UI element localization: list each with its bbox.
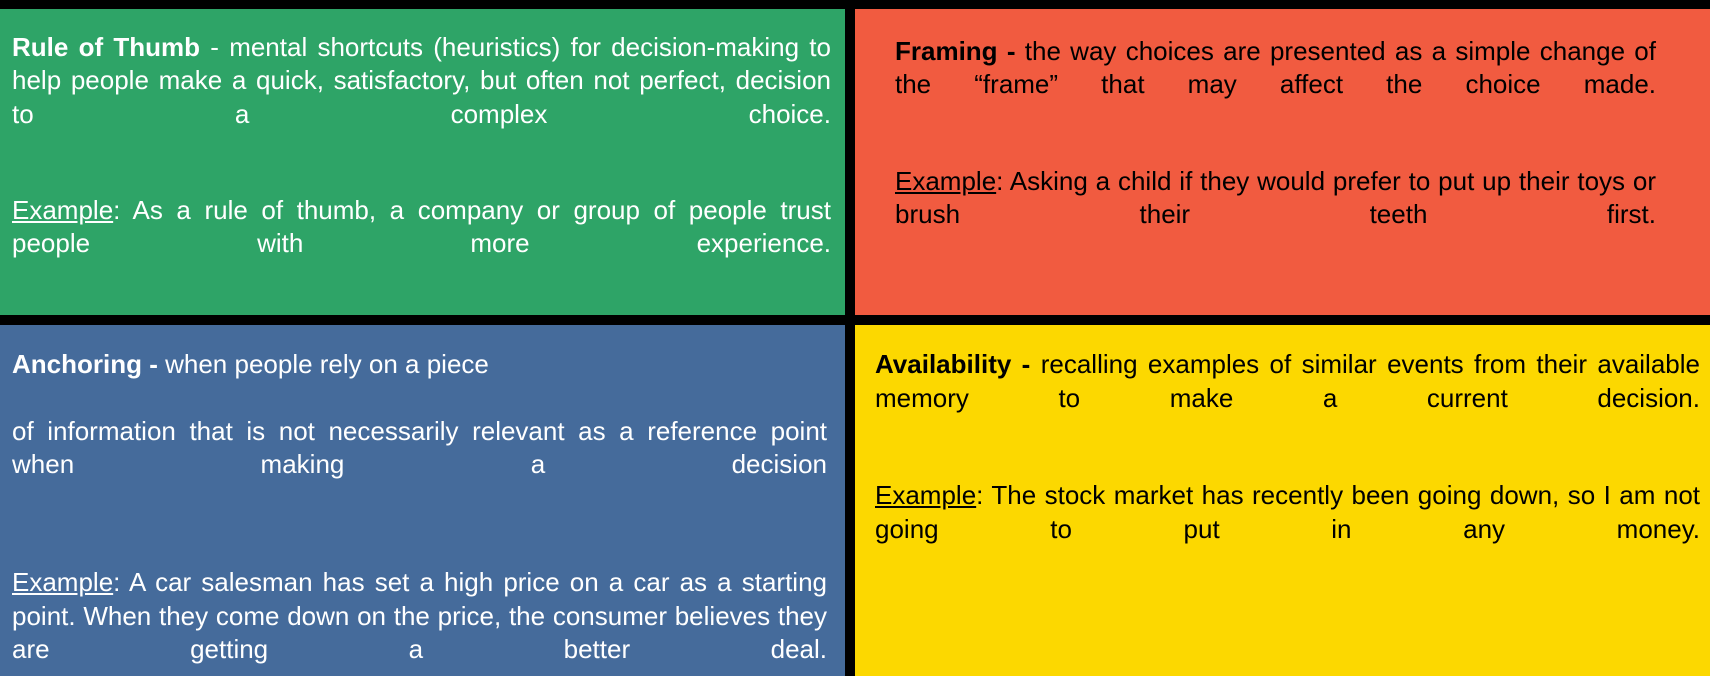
card-availability: Availability - recalling examples of sim… — [855, 325, 1710, 676]
card-anchoring: Anchoring - when people rely on a piece … — [0, 325, 845, 676]
framing-example-label: Example — [895, 166, 996, 196]
framing-term: Framing - — [895, 36, 1016, 66]
availability-example-text: : The stock market has recently been goi… — [875, 480, 1700, 544]
anchoring-definition-rest: of information that is not necessarily r… — [12, 415, 827, 515]
anchoring-example: Example: A car salesman has set a high p… — [12, 566, 827, 676]
card-framing: Framing - the way choices are presented … — [855, 9, 1710, 315]
rule-of-thumb-example-label: Example — [12, 195, 113, 225]
rule-of-thumb-example: Example: As a rule of thumb, a company o… — [12, 194, 831, 294]
anchoring-example-text: : A car salesman has set a high price on… — [12, 567, 827, 664]
framing-definition: Framing - the way choices are presented … — [895, 35, 1656, 135]
rule-of-thumb-term: Rule of Thumb — [12, 32, 200, 62]
availability-definition: Availability - recalling examples of sim… — [875, 348, 1700, 449]
availability-term: Availability - — [875, 349, 1030, 379]
card-rule-of-thumb: Rule of Thumb - mental shortcuts (heuris… — [0, 9, 845, 315]
anchoring-term: Anchoring - — [12, 349, 158, 379]
anchoring-definition-first-line: Anchoring - when people rely on a piece — [12, 348, 827, 415]
anchoring-example-label: Example — [12, 567, 113, 597]
rule-of-thumb-definition: Rule of Thumb - mental shortcuts (heuris… — [12, 31, 831, 164]
framing-example-text: : Asking a child if they would prefer to… — [895, 166, 1656, 229]
rule-of-thumb-example-text: : As a rule of thumb, a company or group… — [12, 195, 831, 258]
anchoring-definition-line1: when people rely on a piece — [158, 349, 489, 379]
availability-example-label: Example — [875, 480, 976, 510]
availability-example: Example: The stock market has recently b… — [875, 479, 1700, 580]
heuristics-grid: Rule of Thumb - mental shortcuts (heuris… — [0, 0, 1710, 676]
framing-example: Example: Asking a child if they would pr… — [895, 165, 1656, 265]
